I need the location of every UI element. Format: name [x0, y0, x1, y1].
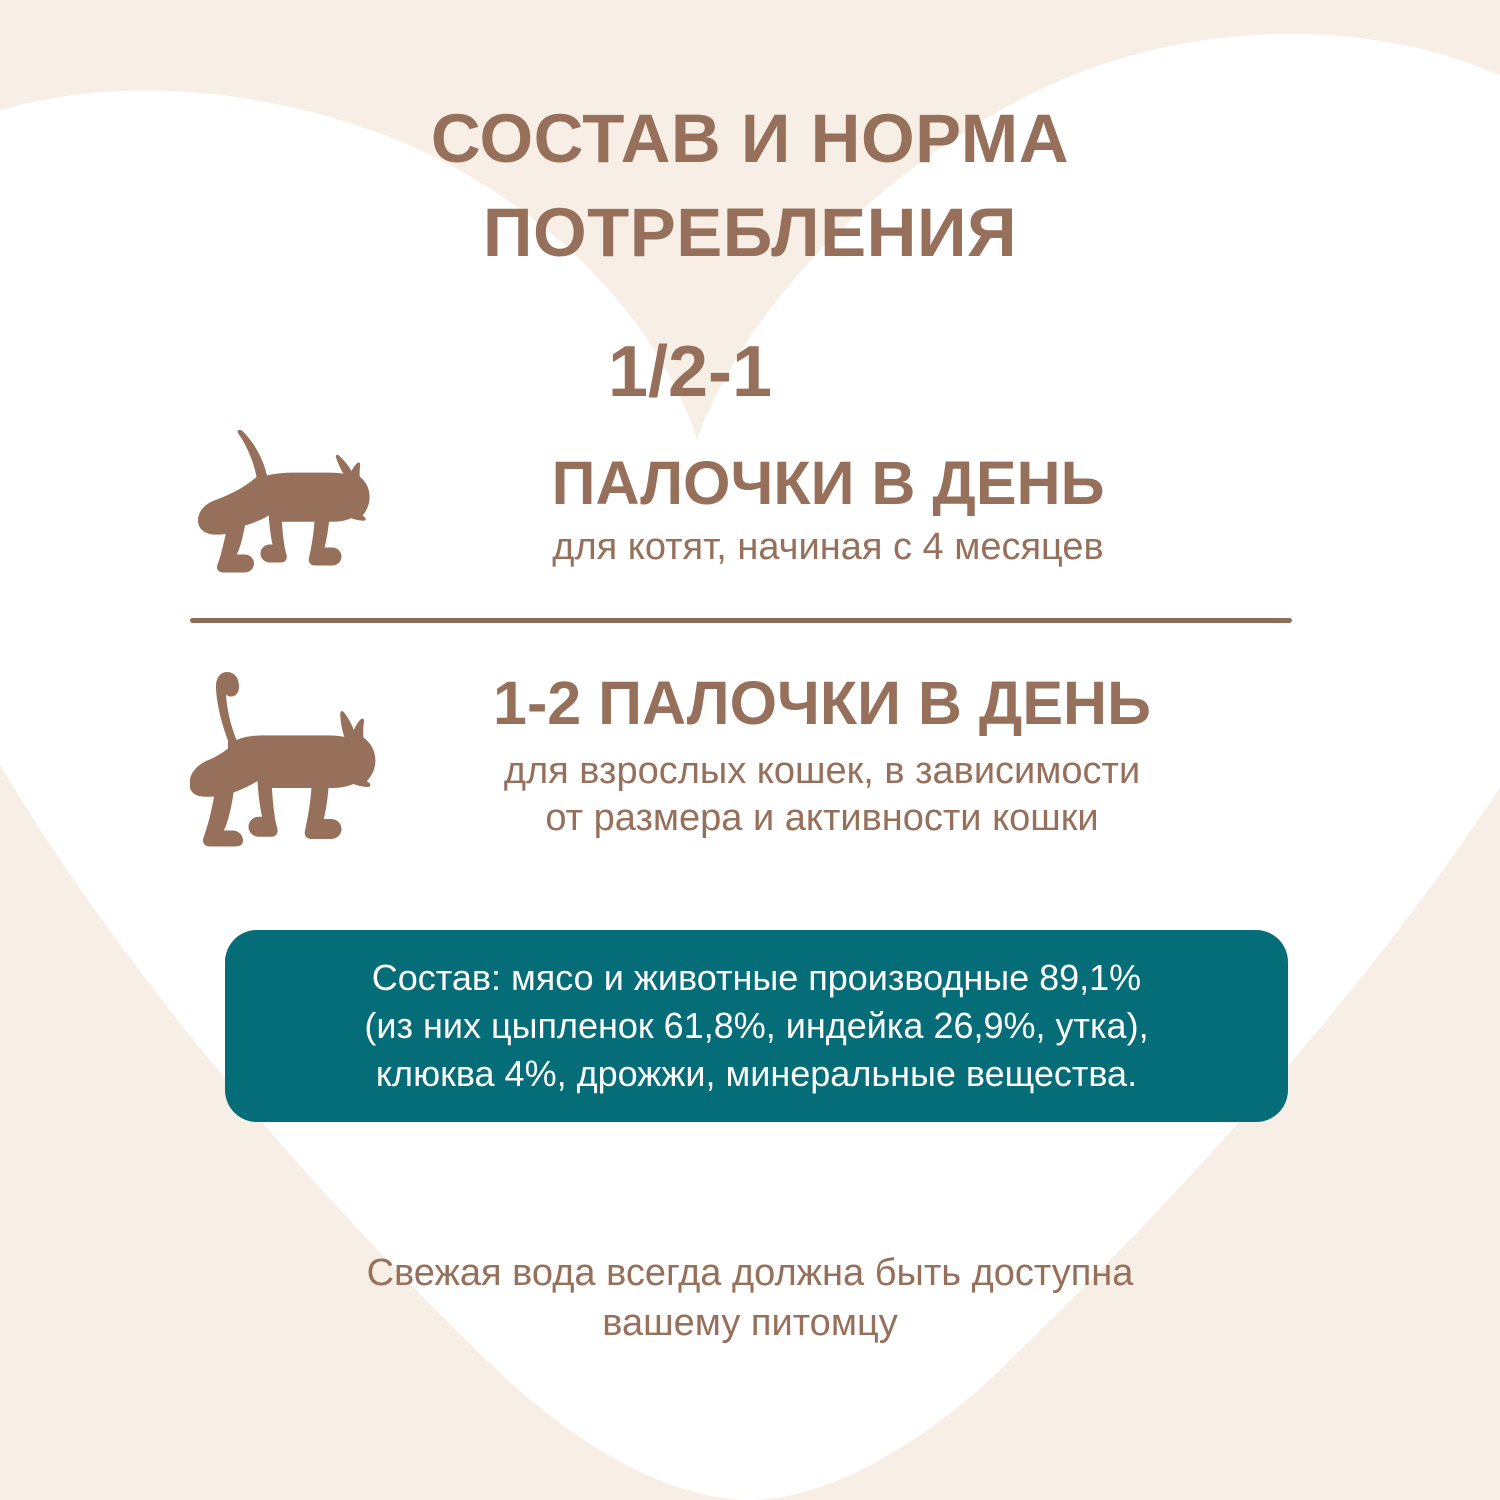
kitten-dose-headline: ПАЛОЧКИ В ДЕНЬ	[398, 452, 1258, 514]
page-title-line-1: СОСТАВ И НОРМА	[250, 92, 1250, 186]
product-info-poster: СОСТАВ И НОРМА ПОТРЕБЛЕНИЯ 1/2-1 ПАЛОЧКИ…	[0, 0, 1500, 1500]
kitten-feeding-text: ПАЛОЧКИ В ДЕНЬ для котят, начиная с 4 ме…	[398, 452, 1258, 571]
water-note-line-1: Свежая вода всегда должна быть доступна	[250, 1248, 1250, 1298]
adult-feeding-text: 1-2 ПАЛОЧКИ В ДЕНЬ для взрослых кошек, в…	[372, 672, 1272, 841]
kitten-dose-subtext: для котят, начиная с 4 месяцев	[398, 524, 1258, 570]
adult-dose-headline: 1-2 ПАЛОЧКИ В ДЕНЬ	[372, 672, 1272, 734]
composition-line-2: (из них цыпленок 61,8%, индейка 26,9%, у…	[364, 1002, 1148, 1050]
adult-cat-silhouette-icon	[190, 670, 380, 853]
composition-panel: Состав: мясо и животные производные 89,1…	[225, 930, 1288, 1122]
adult-dose-subtext: для взрослых кошек, в зависимости от раз…	[372, 748, 1272, 841]
composition-line-1: Состав: мясо и животные производные 89,1…	[364, 954, 1148, 1002]
kitten-silhouette-icon	[196, 430, 382, 587]
water-note-line-2: вашему питомцу	[250, 1298, 1250, 1348]
adult-dose-subtext-line-1: для взрослых кошек, в зависимости	[372, 748, 1272, 794]
section-divider	[190, 618, 1292, 623]
composition-text: Состав: мясо и животные производные 89,1…	[340, 954, 1172, 1098]
water-availability-note: Свежая вода всегда должна быть доступна …	[250, 1248, 1250, 1348]
page-title-line-2: ПОТРЕБЛЕНИЯ	[250, 186, 1250, 280]
kitten-dose-amount: 1/2-1	[480, 336, 900, 408]
adult-dose-subtext-line-2: от размера и активности кошки	[372, 795, 1272, 841]
composition-line-3: клюква 4%, дрожжи, минеральные вещества.	[364, 1050, 1148, 1098]
page-title: СОСТАВ И НОРМА ПОТРЕБЛЕНИЯ	[250, 92, 1250, 280]
